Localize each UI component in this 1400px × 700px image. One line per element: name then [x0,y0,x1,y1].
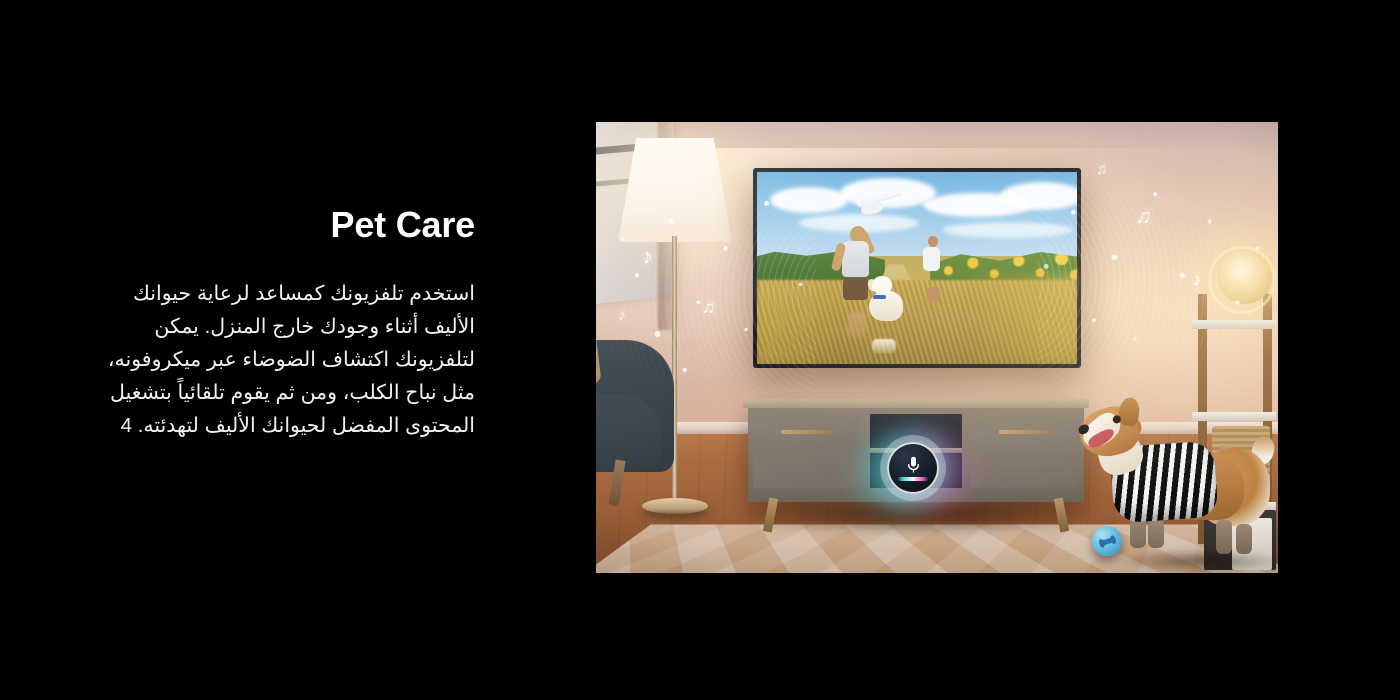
shelf-board-top [1192,320,1276,329]
floor-lamp-pole [672,236,677,506]
far-child-torso [923,247,940,271]
cloud [943,222,1073,238]
near-child-torso [842,241,869,277]
page-title: Pet Care [100,205,475,245]
corgi-shadow [1114,550,1278,572]
tv-screen [757,172,1077,364]
console-top-surface [743,399,1089,408]
corgi-hind-leg [1216,520,1232,554]
console-door-right [971,414,1079,488]
tv-dog-collar [873,295,886,299]
body-paragraph: استخدم تلفزيونك كمساعد لرعاية حيوانك الأ… [100,277,475,443]
dog-ball-toy [1092,526,1122,556]
voice-assistant-badge[interactable] [887,442,939,494]
console-handle-left [781,430,833,434]
near-child-legs [848,312,866,338]
motion-blur-right [968,276,1077,364]
text-column: Pet Care استخدم تلفزيونك كمساعد لرعاية ح… [100,205,475,443]
motion-blur-left [757,283,840,364]
tv-dog-legs [872,339,896,353]
floor-lamp-base [642,498,708,514]
corgi-dog [1064,410,1278,573]
cloud [1000,182,1077,210]
corgi-front-leg-far [1148,518,1164,548]
voice-waveform-icon [898,477,928,481]
console-door-left [753,414,861,488]
near-child-shorts [843,278,868,300]
scene-photo: ♪ ♫ ♪ ♫ ♪ ♫ [596,122,1278,573]
far-child-legs [927,287,940,303]
microphone-icon [907,456,920,475]
corgi-hind-leg-far [1236,524,1252,554]
console-handle-right [999,430,1051,434]
tv-dog-head [872,276,892,294]
table-lamp-shade [1208,246,1276,314]
bone-icon [1101,537,1115,546]
floor-lamp-shade [618,138,732,242]
television[interactable] [753,168,1081,368]
page-root: Pet Care استخدم تلفزيونك كمساعد لرعاية ح… [0,0,1400,700]
